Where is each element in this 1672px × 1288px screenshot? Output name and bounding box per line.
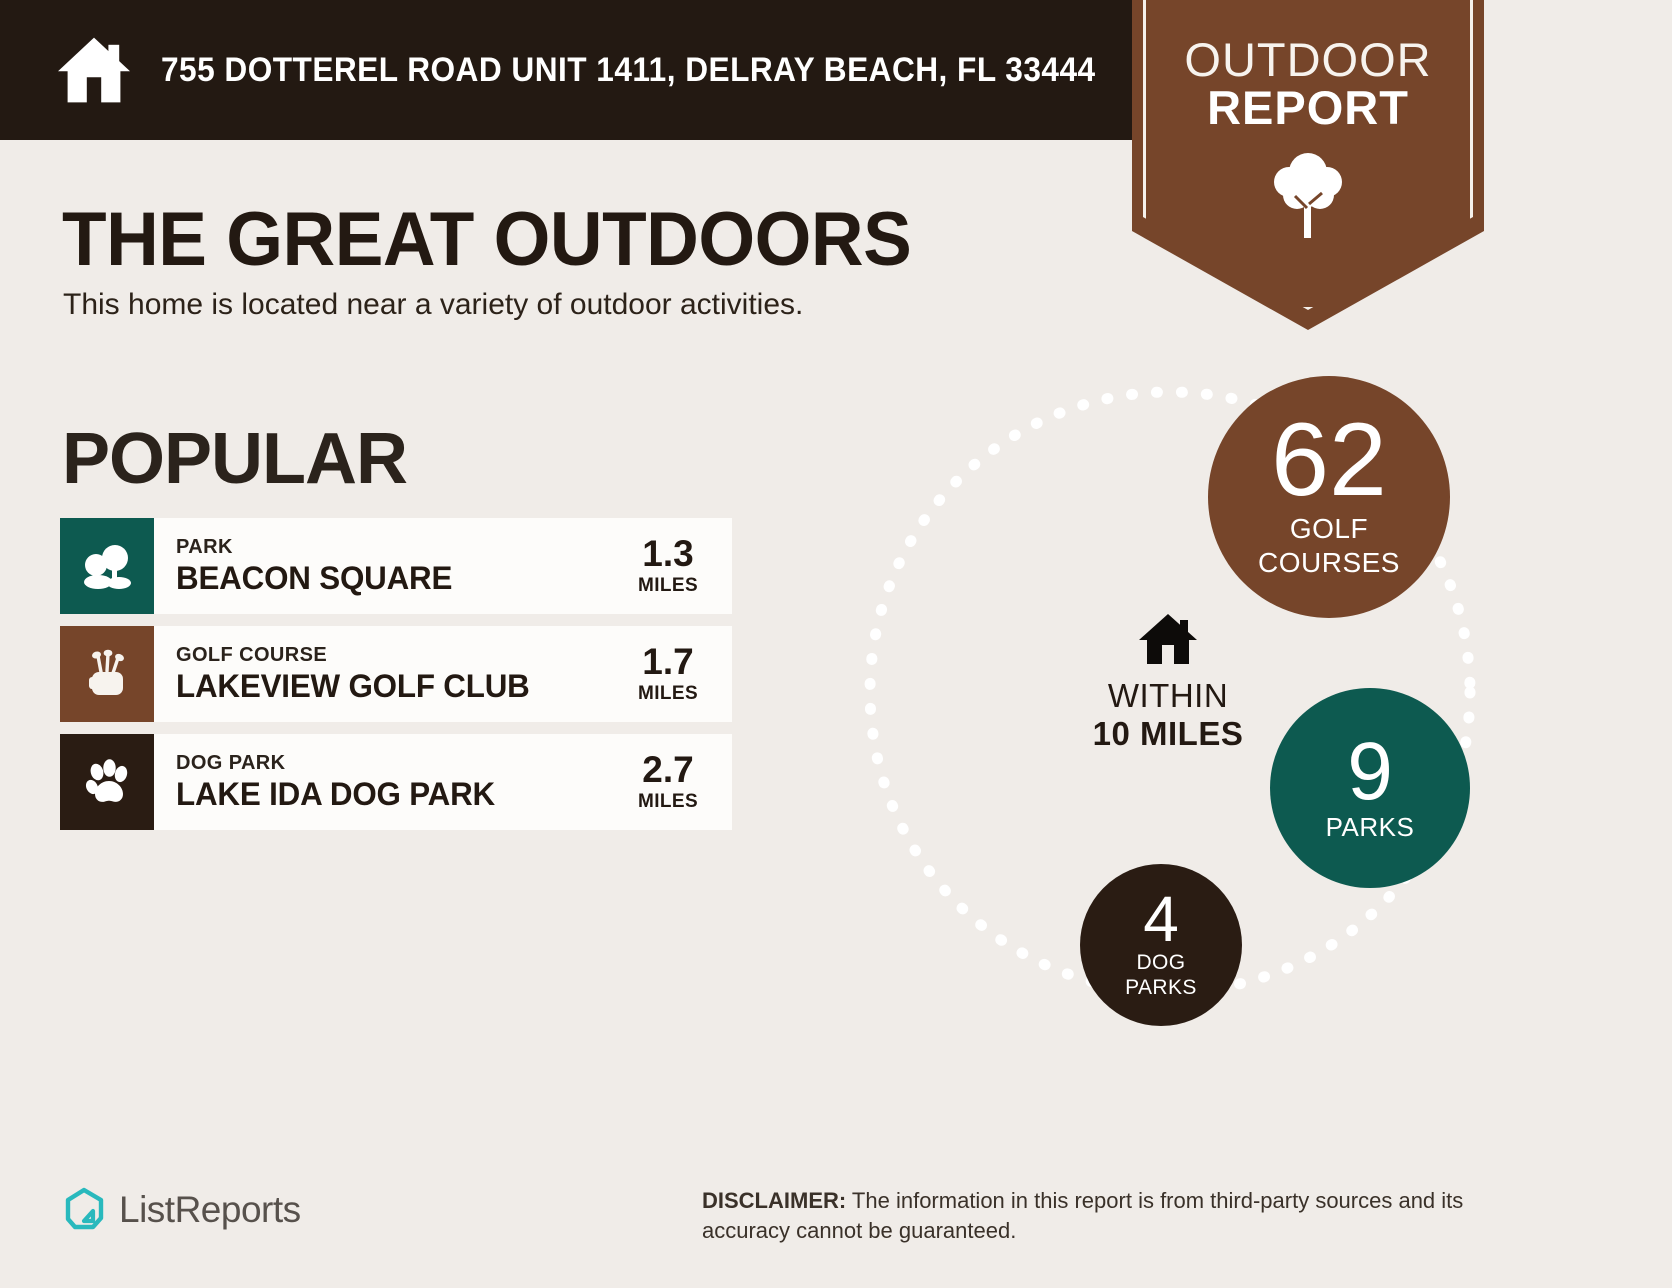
listreports-wordmark: ListReports: [119, 1189, 301, 1231]
listreports-house-icon: [62, 1186, 108, 1234]
tree-icon: [1132, 146, 1484, 247]
item-category: GOLF COURSE: [176, 643, 622, 668]
item-name: BEACON SQUARE: [176, 560, 613, 597]
popular-heading: POPULAR: [62, 418, 407, 500]
item-distance-value: 1.3: [622, 535, 714, 572]
item-distance: 1.7 MILES: [622, 643, 714, 705]
listreports-logo[interactable]: ListReports: [62, 1186, 301, 1234]
outdoor-report-badge: OUTDOOR REPORT: [1132, 0, 1484, 330]
header-bar: 755 DOTTEREL ROAD UNIT 1411, DELRAY BEAC…: [0, 0, 1190, 140]
item-category: PARK: [176, 535, 622, 560]
page-title: THE GREAT OUTDOORS: [62, 196, 911, 283]
golf-bag-icon: [60, 626, 154, 722]
dog-parks-label-line1: DOG: [1136, 951, 1185, 974]
within-10-miles-diagram: WITHIN 10 MILES 62 GOLF COURSES 9 PARKS …: [840, 360, 1540, 1060]
item-distance-unit: MILES: [622, 791, 714, 813]
list-item[interactable]: GOLF COURSE LAKEVIEW GOLF CLUB 1.7 MILES: [60, 626, 732, 722]
center-line2: 10 MILES: [1068, 715, 1268, 753]
center-line1: WITHIN: [1068, 677, 1268, 715]
disclaimer-label: DISCLAIMER:: [702, 1188, 846, 1213]
item-distance-value: 1.7: [622, 643, 714, 680]
item-name: LAKE IDA DOG PARK: [176, 776, 613, 813]
golf-courses-count: 62: [1271, 411, 1387, 510]
stat-bubble-golf-courses: 62 GOLF COURSES: [1208, 376, 1450, 618]
item-name: LAKEVIEW GOLF CLUB: [176, 668, 613, 705]
property-address: 755 DOTTEREL ROAD UNIT 1411, DELRAY BEAC…: [161, 51, 1096, 90]
home-icon: [1068, 612, 1268, 671]
paw-print-icon: [60, 734, 154, 830]
list-item[interactable]: DOG PARK LAKE IDA DOG PARK 2.7 MILES: [60, 734, 732, 830]
parks-label: PARKS: [1326, 813, 1415, 842]
golf-courses-label-line1: GOLF: [1290, 514, 1368, 545]
dog-parks-count: 4: [1143, 889, 1179, 950]
golf-courses-label-line2: COURSES: [1258, 548, 1400, 579]
stat-bubble-dog-parks: 4 DOG PARKS: [1080, 864, 1242, 1026]
home-icon: [55, 34, 133, 106]
item-category: DOG PARK: [176, 751, 622, 776]
item-distance: 1.3 MILES: [622, 535, 714, 597]
park-trees-icon: [60, 518, 154, 614]
popular-list: PARK BEACON SQUARE 1.3 MILES: [60, 518, 732, 842]
badge-title-line1: OUTDOOR: [1132, 36, 1484, 83]
item-distance-unit: MILES: [622, 575, 714, 597]
list-item[interactable]: PARK BEACON SQUARE 1.3 MILES: [60, 518, 732, 614]
item-distance: 2.7 MILES: [622, 751, 714, 813]
badge-title-line2: REPORT: [1132, 83, 1484, 132]
item-distance-value: 2.7: [622, 751, 714, 788]
diagram-center-label: WITHIN 10 MILES: [1068, 612, 1268, 753]
stat-bubble-parks: 9 PARKS: [1270, 688, 1470, 888]
disclaimer: DISCLAIMER: The information in this repo…: [702, 1186, 1502, 1247]
page-subtitle: This home is located near a variety of o…: [63, 288, 803, 322]
dog-parks-label-line2: PARKS: [1125, 976, 1197, 999]
parks-count: 9: [1347, 733, 1393, 811]
item-distance-unit: MILES: [622, 683, 714, 705]
